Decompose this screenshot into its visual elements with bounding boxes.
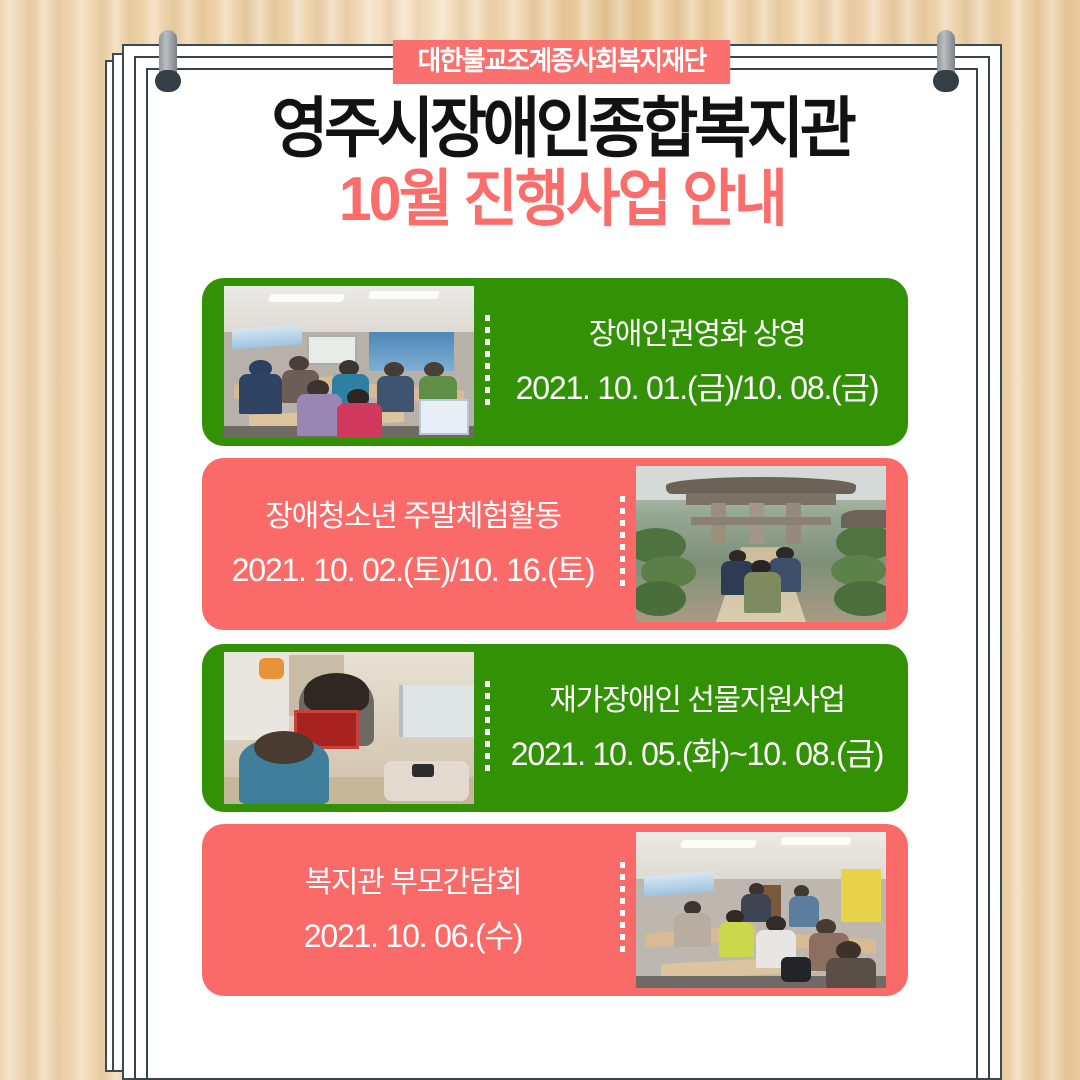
program-name-2: 장애청소년 주말체험활동 (265, 497, 560, 536)
pin-cap (933, 70, 959, 92)
program-name-1: 장애인권영화 상영 (589, 315, 806, 354)
program-name-3: 재가장애인 선물지원사업 (549, 681, 844, 720)
card-divider-4 (620, 862, 625, 958)
program-date-1: 2021. 10. 01.(금)/10. 08.(금) (516, 368, 879, 410)
program-text-4: 복지관 부모간담회 2021. 10. 06.(수) (218, 824, 608, 996)
card-divider-3 (485, 681, 490, 775)
program-photo-1 (224, 286, 474, 438)
program-photo-2 (636, 466, 886, 622)
program-date-2: 2021. 10. 02.(토)/10. 16.(토) (232, 550, 595, 592)
program-photo-4 (636, 832, 886, 988)
binder-pin-right-icon (933, 30, 959, 92)
program-text-2: 장애청소년 주말체험활동 2021. 10. 02.(토)/10. 16.(토) (218, 458, 608, 630)
program-name-4: 복지관 부모간담회 (305, 863, 522, 902)
pin-cap (155, 70, 181, 92)
program-date-3: 2021. 10. 05.(화)~10. 08.(금) (511, 734, 883, 776)
card-divider-2 (620, 496, 625, 592)
program-card-3[interactable]: 재가장애인 선물지원사업 2021. 10. 05.(화)~10. 08.(금) (202, 644, 908, 812)
poster-canvas: 대한불교조계종사회복지재단 영주시장애인종합복지관 10월 진행사업 안내 (0, 0, 1080, 1080)
program-card-2[interactable]: 장애청소년 주말체험활동 2021. 10. 02.(토)/10. 16.(토) (202, 458, 908, 630)
page-title: 영주시장애인종합복지관 (148, 94, 975, 163)
program-photo-3 (224, 652, 474, 804)
program-date-4: 2021. 10. 06.(수) (304, 916, 522, 958)
poster-header: 대한불교조계종사회복지재단 영주시장애인종합복지관 10월 진행사업 안내 (122, 40, 1002, 232)
program-text-3: 재가장애인 선물지원사업 2021. 10. 05.(화)~10. 08.(금) (502, 644, 892, 812)
card-divider-1 (485, 315, 490, 409)
binder-pin-left-icon (155, 30, 181, 92)
program-text-1: 장애인권영화 상영 2021. 10. 01.(금)/10. 08.(금) (502, 278, 892, 446)
program-card-1[interactable]: 장애인권영화 상영 2021. 10. 01.(금)/10. 08.(금) (202, 278, 908, 446)
program-card-4[interactable]: 복지관 부모간담회 2021. 10. 06.(수) (202, 824, 908, 996)
page-subtitle: 10월 진행사업 안내 (144, 167, 980, 232)
organization-badge: 대한불교조계종사회복지재단 (393, 40, 731, 84)
